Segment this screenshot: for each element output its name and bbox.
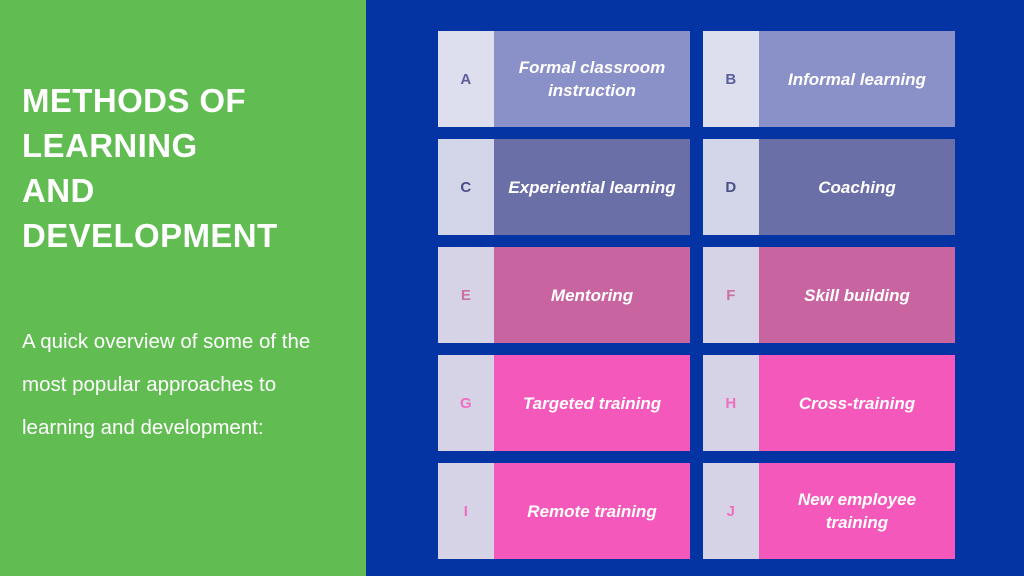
method-card-label: New employee training bbox=[759, 463, 955, 559]
method-card-label: Coaching bbox=[759, 139, 955, 235]
page-subtitle: A quick overview of some of the most pop… bbox=[22, 320, 344, 449]
methods-card-grid: AFormal classroom instructionBInformal l… bbox=[438, 31, 955, 561]
method-card[interactable]: EMentoring bbox=[438, 247, 690, 343]
method-card[interactable]: JNew employee training bbox=[703, 463, 955, 559]
method-card[interactable]: CExperiential learning bbox=[438, 139, 690, 235]
method-card-label: Mentoring bbox=[494, 247, 690, 343]
method-card[interactable]: DCoaching bbox=[703, 139, 955, 235]
method-card-letter: B bbox=[703, 31, 759, 127]
method-card[interactable]: AFormal classroom instruction bbox=[438, 31, 690, 127]
method-card-letter: H bbox=[703, 355, 759, 451]
method-card-letter: F bbox=[703, 247, 759, 343]
method-card[interactable]: BInformal learning bbox=[703, 31, 955, 127]
method-card-label: Formal classroom instruction bbox=[494, 31, 690, 127]
method-card-label: Informal learning bbox=[759, 31, 955, 127]
method-card-letter: I bbox=[438, 463, 494, 559]
slide-canvas: Methods of Learning and Development A qu… bbox=[0, 0, 1024, 576]
method-card-label: Skill building bbox=[759, 247, 955, 343]
method-card[interactable]: IRemote training bbox=[438, 463, 690, 559]
method-card[interactable]: HCross-training bbox=[703, 355, 955, 451]
method-card-letter: A bbox=[438, 31, 494, 127]
left-green-panel: Methods of Learning and Development A qu… bbox=[0, 0, 366, 576]
method-card-letter: E bbox=[438, 247, 494, 343]
method-card-label: Targeted training bbox=[494, 355, 690, 451]
method-card-letter: G bbox=[438, 355, 494, 451]
method-card-label: Experiential learning bbox=[494, 139, 690, 235]
method-card[interactable]: GTargeted training bbox=[438, 355, 690, 451]
method-card[interactable]: FSkill building bbox=[703, 247, 955, 343]
method-card-label: Remote training bbox=[494, 463, 690, 559]
page-title: Methods of Learning and Development bbox=[22, 78, 352, 258]
method-card-letter: D bbox=[703, 139, 759, 235]
method-card-letter: C bbox=[438, 139, 494, 235]
method-card-label: Cross-training bbox=[759, 355, 955, 451]
method-card-letter: J bbox=[703, 463, 759, 559]
